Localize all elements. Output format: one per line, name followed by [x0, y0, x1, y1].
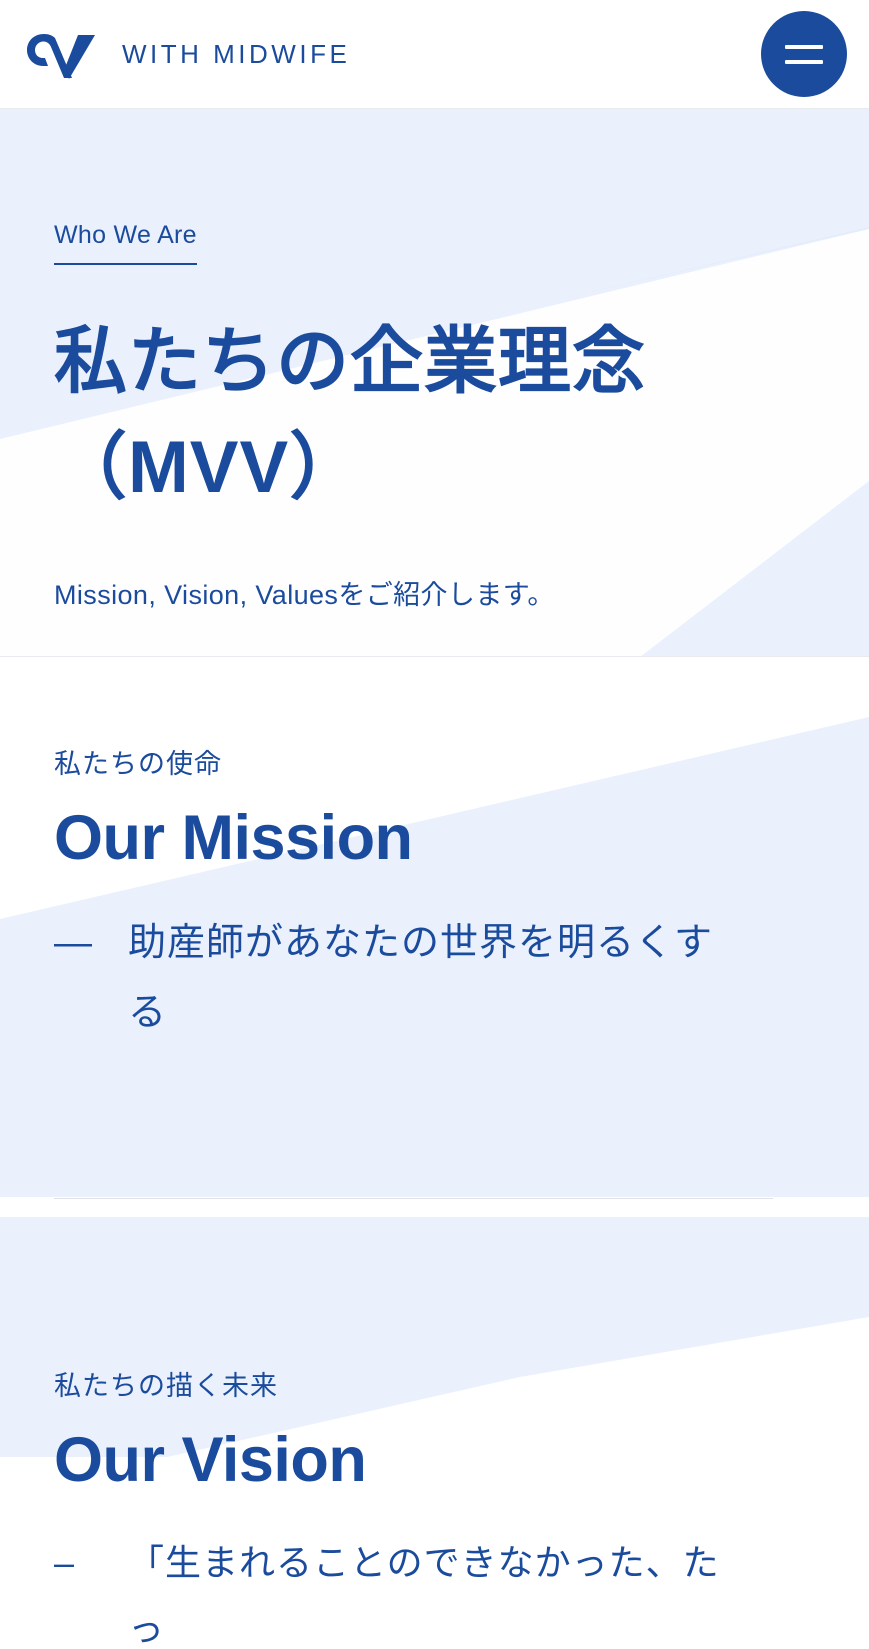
section-mission-ja-label: 私たちの使命 [54, 742, 869, 781]
brand-wordmark: WITH MIDWIFE [122, 39, 350, 70]
brand-logo-link[interactable]: WITH MIDWIFE [22, 26, 350, 82]
mvv-sections-wrapper: 私たちの使命 Our Mission — 助産師があなたの世界を明るくする 私た… [0, 657, 869, 1649]
hero-bottom-divider [0, 656, 869, 657]
vision-dash-marker: – [54, 1530, 128, 1649]
section-vision-ja-label: 私たちの描く未来 [54, 1364, 869, 1403]
mission-body-text: 助産師があなたの世界を明るくする [128, 908, 748, 1049]
hero-eyebrow: Who We Are [54, 221, 197, 265]
section-vision-en-title: Our Vision [54, 1425, 869, 1496]
with-midwife-w-mark-icon [22, 26, 100, 82]
brand-wordmark-text: WITH MIDWIFE [122, 39, 350, 70]
page-title: 私たちの企業理念（MVV） [54, 309, 754, 521]
page-root: WITH MIDWIFE Who We Are 私たちの企業理念（MVV） Mi… [0, 0, 869, 1649]
hamburger-bar-top [785, 45, 823, 49]
hero-content: Who We Are 私たちの企業理念（MVV） Mission, Vision… [0, 109, 869, 612]
section-vision-body: – 「生まれることのできなかった、たっ [54, 1530, 869, 1649]
vision-body-text: 「生まれることのできなかった、たっ [128, 1530, 748, 1649]
hero-section: Who We Are 私たちの企業理念（MVV） Mission, Vision… [0, 109, 869, 657]
site-header: WITH MIDWIFE [0, 0, 869, 109]
section-mission-en-title: Our Mission [54, 803, 869, 874]
section-our-mission: 私たちの使命 Our Mission — 助産師があなたの世界を明るくする [0, 657, 869, 1048]
hamburger-bar-bottom [785, 60, 823, 64]
mission-dash-marker: — [54, 908, 128, 1049]
hero-subtitle: Mission, Vision, Valuesをご紹介します。 [54, 573, 869, 612]
section-mission-body: — 助産師があなたの世界を明るくする [54, 908, 869, 1049]
hamburger-menu-button[interactable] [761, 11, 847, 97]
section-our-vision: 私たちの描く未来 Our Vision – 「生まれることのできなかった、たっ [0, 1199, 869, 1649]
